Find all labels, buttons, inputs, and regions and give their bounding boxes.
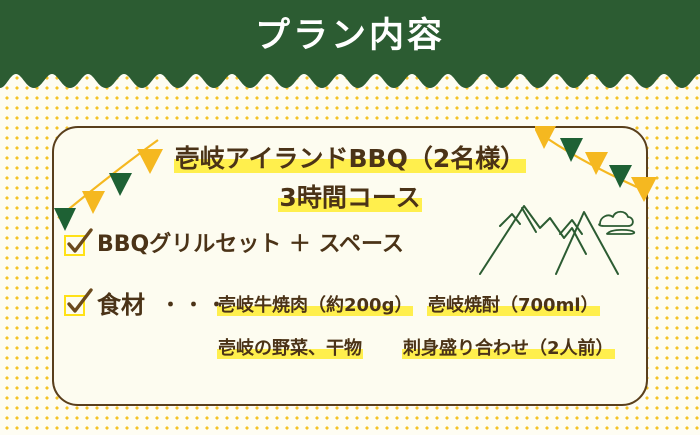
plan-title-line-1: 壱岐アイランドBBQ（2名様） — [52, 139, 648, 175]
plan-title-line-2-text: 3時間コース — [278, 183, 421, 212]
ingredient-row: 壱岐の野菜、干物 刺身盛り合わせ（2人前） — [217, 334, 647, 364]
plan-content-page: プラン内容 壱岐アイランドBBQ（2名様 — [0, 0, 700, 435]
page-title: プラン内容 — [0, 14, 700, 58]
ingredient-item-text: 壱岐の野菜、干物 — [217, 338, 363, 359]
feature-label-food: 食材 — [97, 290, 145, 320]
ingredient-list: 壱岐牛焼肉（約200g） 壱岐焼酎（700ml） 壱岐の野菜、干物 刺身盛り合わ… — [217, 291, 647, 377]
ingredient-item: 刺身盛り合わせ（2人前） — [402, 334, 615, 364]
ingredient-item: 壱岐焼酎（700ml） — [427, 291, 600, 321]
ingredient-item-text: 刺身盛り合わせ（2人前） — [402, 338, 615, 359]
feature-label-grill: BBQグリルセット ＋ スペース — [97, 230, 404, 260]
ingredient-item: 壱岐牛焼肉（約200g） — [217, 291, 427, 321]
feature-row-grill: BBQグリルセット ＋ スペース — [64, 230, 404, 260]
ingredient-row: 壱岐牛焼肉（約200g） 壱岐焼酎（700ml） — [217, 291, 647, 321]
checked-box-icon — [64, 295, 85, 316]
plan-title-line-1-text: 壱岐アイランドBBQ（2名様） — [174, 144, 527, 173]
card-content: 壱岐アイランドBBQ（2名様） 3時間コース BBQグリルセット ＋ スペース … — [52, 126, 648, 406]
ingredient-item-text: 壱岐牛焼肉（約200g） — [217, 295, 413, 316]
ingredient-item-text: 壱岐焼酎（700ml） — [427, 295, 600, 316]
checked-box-icon — [64, 235, 85, 256]
plan-title-line-2: 3時間コース — [52, 178, 648, 214]
ingredient-item: 壱岐の野菜、干物 — [217, 334, 402, 364]
